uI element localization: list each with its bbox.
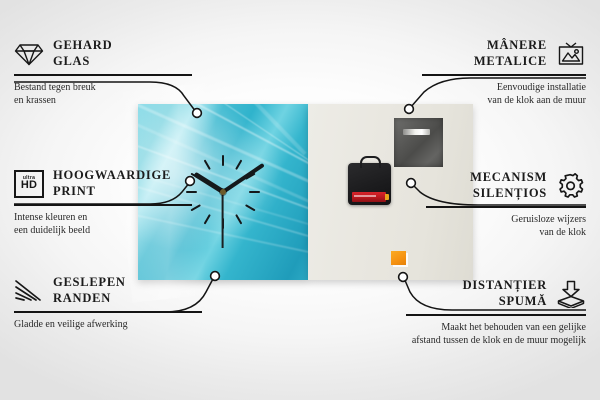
ultra-hd-icon-main-text: HD — [21, 180, 37, 191]
feature-title: DISTANȚIER SPUMĂ — [463, 278, 547, 309]
ultra-hd-icon: ultra HD — [14, 170, 44, 198]
hanging-loop — [360, 156, 381, 168]
feature-distantier-spuma: DISTANȚIER SPUMĂ Maakt het behouden van … — [404, 278, 586, 347]
gear-icon — [556, 173, 586, 199]
feature-hoogwaardige-print: ultra HD HOOGWAARDIGE PRINT Intense kleu… — [14, 168, 194, 237]
feature-divider — [426, 206, 586, 208]
feature-divider — [406, 314, 586, 316]
feature-description: Eenvoudige installatie van de klok aan d… — [487, 81, 586, 107]
feature-description: Maakt het behouden van een gelijke afsta… — [412, 321, 586, 347]
feature-geslepen-randen: GESLEPEN RANDEN Gladde en veilige afwerk… — [14, 275, 204, 331]
feature-divider — [14, 311, 202, 313]
feature-mecanism-silentios: MECANISM SILENȚIOS Geruisloze wijzers va… — [424, 170, 586, 239]
metal-hanger-plate — [394, 118, 443, 167]
feature-description: Intense kleuren en een duidelijk beeld — [14, 211, 194, 237]
feature-title: GEHARD GLAS — [53, 38, 112, 69]
feature-description: Bestand tegen breuk en krassen — [14, 81, 194, 107]
clock-center-cap — [220, 189, 226, 195]
feature-title: MÂNERE METALICE — [474, 38, 547, 69]
feature-description: Gladde en veilige afwerking — [14, 318, 204, 331]
feature-divider — [14, 204, 192, 206]
clock-movement-box — [348, 163, 391, 205]
clock-second-hand — [222, 192, 224, 248]
feature-gehard-glas: GEHARD GLAS Bestand tegen breuk en krass… — [14, 38, 194, 107]
diamond-icon — [14, 41, 44, 67]
foam-spacer — [391, 251, 406, 265]
battery-label-band — [354, 195, 376, 197]
foam-spacer-icon — [556, 280, 586, 308]
feature-title: HOOGWAARDIGE PRINT — [53, 168, 171, 199]
feature-description: Geruisloze wijzers van de klok — [511, 213, 586, 239]
infographic-canvas: GEHARD GLAS Bestand tegen breuk en krass… — [0, 0, 600, 400]
feature-divider — [14, 74, 192, 76]
picture-hanger-icon — [556, 41, 586, 67]
feature-title: MECANISM SILENȚIOS — [470, 170, 547, 201]
aa-battery — [352, 192, 386, 202]
feature-title: GESLEPEN RANDEN — [53, 275, 126, 306]
hanger-slot — [403, 129, 430, 135]
feature-manere-metalice: MÂNERE METALICE Eenvoudige installatie v… — [420, 38, 586, 107]
feature-divider — [422, 74, 586, 76]
beveled-edges-icon — [14, 278, 44, 304]
battery-positive-tip — [385, 194, 389, 200]
